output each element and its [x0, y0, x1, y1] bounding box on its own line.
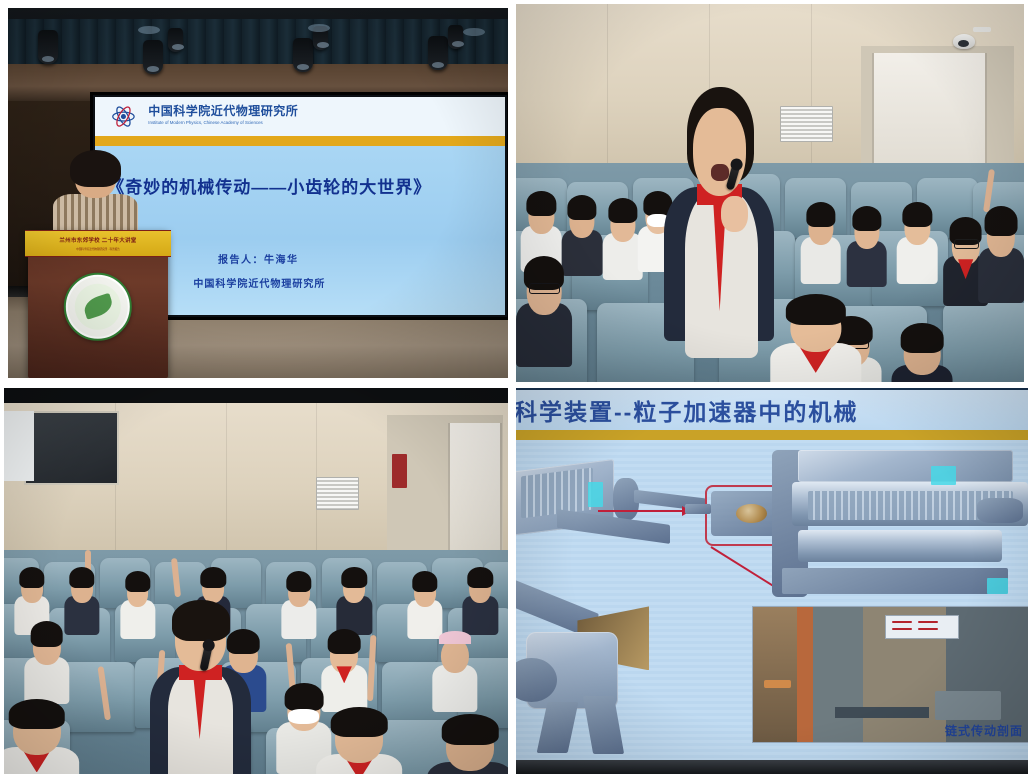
- speaker-hair: [70, 150, 121, 187]
- photo-collage: 中国科学院近代物理研究所 Institute of Modern Physics…: [0, 0, 1028, 774]
- light-lens-icon: [308, 24, 330, 32]
- inset-caption: 链式传动剖面: [945, 722, 1023, 739]
- audience-child-raising-hand: [978, 204, 1024, 302]
- cad-gear: [736, 504, 767, 523]
- student-with-microphone: [155, 600, 246, 774]
- security-camera-icon: [953, 34, 975, 49]
- wall-vent-icon: [780, 106, 833, 142]
- slide-presenter: 报告人：牛海华: [218, 251, 299, 266]
- photo-panel-bottom-left: [4, 388, 508, 774]
- cad-slide: 科学装置--粒子加速器中的机械: [516, 388, 1028, 774]
- screen-bottom-frame: [516, 760, 1028, 774]
- slide-affiliation: 中国科学院近代物理研究所: [193, 275, 325, 290]
- cad-cyan-part: [588, 482, 603, 508]
- cad-slide-body: 链式传动剖面: [516, 440, 1028, 760]
- audience-child: [281, 569, 316, 638]
- slide-header: 中国科学院近代物理研究所 Institute of Modern Physics…: [95, 97, 505, 136]
- stage-light-icon: [38, 30, 58, 64]
- audience-child: [897, 201, 938, 284]
- pointer-arrow: [598, 510, 690, 512]
- audience-child: [602, 197, 643, 280]
- photo-panel-top-right: [516, 4, 1024, 382]
- foreground-child: [427, 712, 508, 774]
- slide-accent-bar: [95, 136, 505, 146]
- podium: 兰州市东郊学校 二十年大讲堂 中国科学院近代物理研究所 · 科普报告: [28, 230, 168, 378]
- photo-panel-top-left: 中国科学院近代物理研究所 Institute of Modern Physics…: [8, 8, 508, 378]
- student-with-microphone: [668, 87, 770, 382]
- podium-banner-text: 兰州市东郊学校 二十年大讲堂: [25, 236, 171, 244]
- light-lens-icon: [138, 26, 160, 34]
- slide-title: 《奇妙的机械传动——小齿轮的大世界》: [107, 173, 508, 198]
- cad-leg: [583, 696, 624, 754]
- mouth: [711, 164, 729, 182]
- hair: [172, 600, 230, 641]
- audience-child: [120, 569, 155, 638]
- audience-child: [463, 566, 498, 635]
- cad-indicator: [987, 578, 1007, 594]
- school-emblem-icon: [64, 273, 132, 341]
- cad-top-rail: [798, 450, 1013, 482]
- cad-slide-accent-bar: [516, 430, 1028, 440]
- institute-name-en: Institute of Modern Physics, Chinese Aca…: [148, 120, 262, 125]
- doorway: [448, 423, 502, 558]
- stage-light-icon: [168, 28, 183, 52]
- cad-lower-tube: [798, 530, 1003, 562]
- audience-child: [337, 566, 372, 635]
- photo-panel-bottom-right: 科学装置--粒子加速器中的机械: [516, 388, 1028, 774]
- exit-sign-icon: [392, 454, 407, 489]
- cad-end-cap: [977, 498, 1023, 524]
- cad-slide-title: 科学装置--粒子加速器中的机械: [516, 393, 858, 427]
- stage-light-icon: [448, 25, 463, 49]
- control-panel: [885, 615, 959, 639]
- podium-banner: 兰州市东郊学校 二十年大讲堂 中国科学院近代物理研究所 · 科普报告: [25, 230, 171, 257]
- institute-logo-icon: [105, 104, 142, 129]
- podium-banner-subtext: 中国科学院近代物理研究所 · 科普报告: [25, 247, 171, 251]
- audience-child: [64, 566, 99, 635]
- inset-photograph: 链式传动剖面: [752, 606, 1028, 742]
- foreground-child: [770, 291, 861, 382]
- cad-leg: [536, 702, 578, 753]
- face: [693, 108, 746, 196]
- stage-light-icon: [293, 38, 313, 72]
- audience-child: [800, 201, 841, 284]
- cad-base-plate: [782, 568, 1007, 594]
- wall-mounted-screen: [24, 411, 119, 484]
- foreground-child: [316, 705, 402, 774]
- audience-child: [24, 620, 69, 705]
- light-lens-icon: [463, 28, 485, 36]
- foreground-child: [4, 697, 80, 774]
- audience-child-glasses: [516, 253, 572, 366]
- institute-name-cn: 中国科学院近代物理研究所: [148, 102, 298, 119]
- audience-child: [846, 204, 887, 287]
- wall-vent-icon: [316, 477, 358, 510]
- audience-child: [892, 322, 953, 382]
- window-panel: [4, 411, 34, 480]
- camera-arm: [973, 27, 991, 32]
- stage-light-icon: [143, 40, 163, 74]
- cad-cyan-part: [931, 466, 957, 485]
- audience-child-cap: [432, 627, 477, 712]
- stage-light-icon: [428, 36, 448, 70]
- cad-slide-title-bar: 科学装置--粒子加速器中的机械: [516, 390, 1028, 430]
- cad-stub: [685, 504, 711, 514]
